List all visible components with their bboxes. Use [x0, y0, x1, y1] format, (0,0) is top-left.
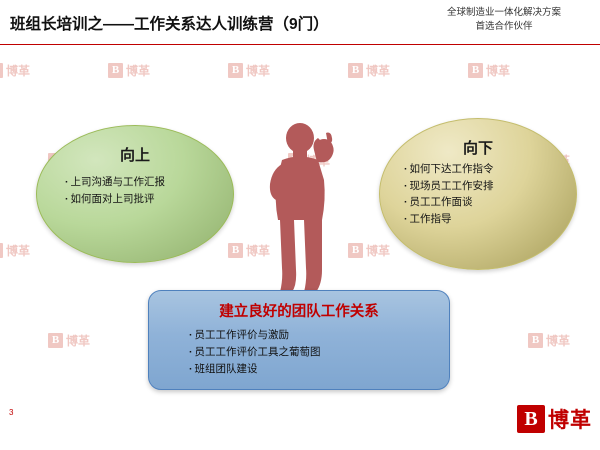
watermark: B 博革 — [348, 62, 390, 79]
watermark: B 博革 — [528, 332, 570, 349]
thumbs-up-person-icon — [252, 120, 352, 295]
slide-header: 班组长培训之——工作关系达人训练营（9门） 全球制造业一体化解决方案 首选合作伙… — [0, 0, 600, 44]
list-item: 员工工作评价工具之葡萄图 — [189, 344, 321, 361]
watermark-badge-icon: B — [228, 243, 243, 258]
page-number: 3 — [9, 408, 13, 417]
team-relationship-list: 员工工作评价与激励 员工工作评价工具之葡萄图 班组团队建设 — [189, 327, 321, 378]
watermark: B 博革 — [228, 62, 270, 79]
watermark: B 博革 — [348, 242, 390, 259]
bubble-downward-title: 向下 — [380, 137, 576, 158]
list-item: 如何面对上司批评 — [65, 191, 217, 208]
list-item: 现场员工工作安排 — [404, 178, 560, 195]
header-tagline-line2: 首选合作伙伴 — [416, 20, 592, 34]
header-tagline: 全球制造业一体化解决方案 首选合作伙伴 — [416, 6, 592, 34]
watermark-badge-icon: B — [528, 333, 543, 348]
watermark-text: 博革 — [546, 332, 570, 349]
list-item: 班组团队建设 — [189, 361, 321, 378]
list-item: 如何下达工作指令 — [404, 161, 560, 178]
watermark: B 博革 — [0, 62, 30, 79]
list-item: 员工工作评价与激励 — [189, 327, 321, 344]
watermark-text: 博革 — [126, 62, 150, 79]
company-logo: B 博革 — [517, 404, 592, 434]
watermark-text: 博革 — [366, 242, 390, 259]
bubble-downward-list: 如何下达工作指令 现场员工工作安排 员工工作面谈 工作指导 — [404, 161, 560, 227]
list-item: 员工工作面谈 — [404, 194, 560, 211]
watermark-text: 博革 — [6, 62, 30, 79]
team-relationship-box: 建立良好的团队工作关系 员工工作评价与激励 员工工作评价工具之葡萄图 班组团队建… — [148, 290, 450, 390]
logo-text: 博革 — [548, 404, 592, 434]
bubble-upward-title: 向上 — [37, 144, 233, 165]
bubble-upward: 向上 上司沟通与工作汇报 如何面对上司批评 — [36, 125, 234, 263]
watermark-badge-icon: B — [0, 243, 3, 258]
team-relationship-title: 建立良好的团队工作关系 — [149, 300, 449, 321]
bubble-downward: 向下 如何下达工作指令 现场员工工作安排 员工工作面谈 工作指导 — [379, 118, 577, 270]
watermark-badge-icon: B — [348, 63, 363, 78]
header-tagline-line1: 全球制造业一体化解决方案 — [416, 6, 592, 20]
watermark-badge-icon: B — [48, 333, 63, 348]
list-item: 工作指导 — [404, 211, 560, 228]
watermark-text: 博革 — [486, 62, 510, 79]
watermark-text: 博革 — [246, 62, 270, 79]
bubble-upward-list: 上司沟通与工作汇报 如何面对上司批评 — [65, 174, 217, 207]
slide: B 博革 B 博革 B 博革 B 博革 B 博革 B 博革 B 博革 B 博革 — [0, 0, 600, 450]
watermark: B 博革 — [468, 62, 510, 79]
watermark-badge-icon: B — [468, 63, 483, 78]
watermark-text: 博革 — [66, 332, 90, 349]
watermark-badge-icon: B — [0, 63, 3, 78]
watermark: B 博革 — [0, 242, 30, 259]
watermark-text: 博革 — [366, 62, 390, 79]
watermark-text: 博革 — [6, 242, 30, 259]
page-title: 班组长培训之——工作关系达人训练营（9门） — [10, 12, 329, 34]
watermark-badge-icon: B — [228, 63, 243, 78]
logo-badge-icon: B — [517, 405, 545, 433]
watermark: B 博革 — [108, 62, 150, 79]
watermark: B 博革 — [48, 332, 90, 349]
watermark-badge-icon: B — [108, 63, 123, 78]
list-item: 上司沟通与工作汇报 — [65, 174, 217, 191]
